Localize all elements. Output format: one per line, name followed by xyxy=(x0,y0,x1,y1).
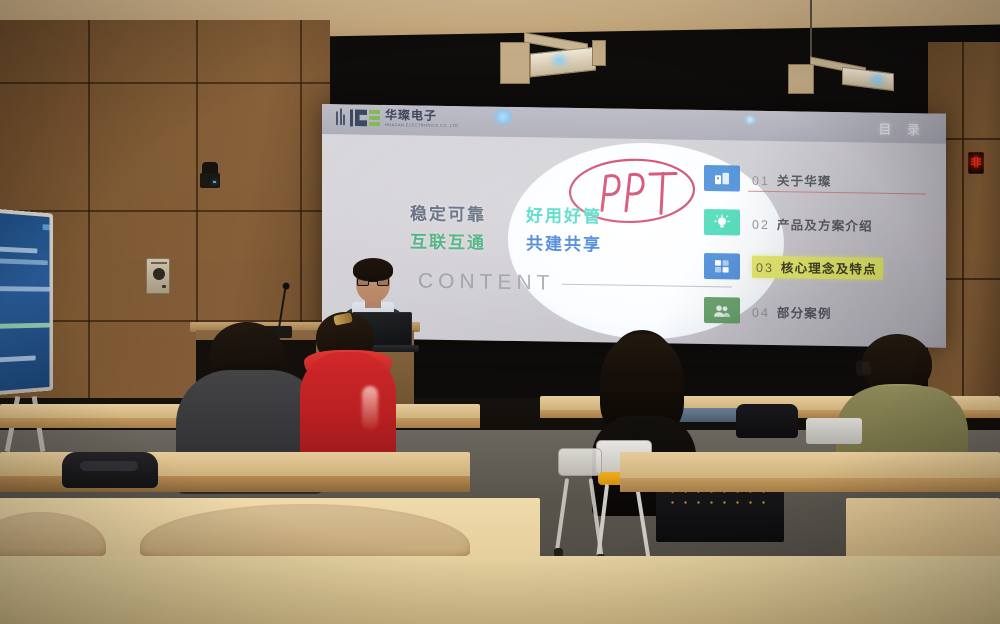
projector-hotspot xyxy=(490,109,516,125)
toc-name-03: 核心理念及特点 xyxy=(781,257,877,278)
toc-item-04: 04 部分案例 xyxy=(704,288,936,336)
toc-item-02: 02 产品及方案介绍 xyxy=(704,200,936,248)
building-icon xyxy=(704,165,740,192)
lightbulb-icon xyxy=(704,209,740,236)
ptz-camera xyxy=(200,162,220,188)
audience-glasses xyxy=(855,359,872,376)
toc-num-03: 03 xyxy=(756,261,774,275)
backpack-on-desk xyxy=(62,452,158,488)
secondary-display-screen xyxy=(0,212,49,391)
toc-num-04: 04 xyxy=(752,305,770,319)
chair-yellow-seat-secondary xyxy=(558,448,608,568)
desk-bottom-edge xyxy=(0,556,1000,624)
people-icon xyxy=(704,297,740,324)
slide-toc-title: 目 录 xyxy=(878,119,926,139)
toc-num-01: 01 xyxy=(752,173,770,187)
emergency-exit-sign: 非 xyxy=(968,152,984,174)
slide-keyword-1: 稳定可靠 xyxy=(410,199,486,225)
ceiling-projector-left xyxy=(500,24,610,84)
toc-item-03: 03 核心理念及特点 xyxy=(704,244,936,292)
slide-content-word: CONTENT xyxy=(418,270,555,296)
toc-name-02: 产品及方案介绍 xyxy=(777,214,873,235)
toc-item-01: 01 关于华璨 xyxy=(704,156,936,204)
company-logo: 华璨电子 HUACAN ELECTRONICS CO.,LTD xyxy=(336,108,458,128)
toc-underline-01 xyxy=(748,191,926,195)
slide-keyword-3: 好用好管 xyxy=(526,201,602,227)
logo-text-cn: 华璨电子 xyxy=(385,109,458,122)
toc-num-02: 02 xyxy=(752,217,770,231)
lecture-hall-photo: 非 华璨电子 HUACAN xyxy=(0,0,1000,624)
presenter-glasses xyxy=(357,278,389,286)
toc-name-04: 部分案例 xyxy=(777,302,832,322)
logo-mark-icon xyxy=(350,109,380,126)
slide-toc-list: 01 关于华璨 02 产品及方案介绍 xyxy=(704,156,936,336)
projector-hotspot-secondary xyxy=(742,115,758,125)
grid-blocks-icon xyxy=(704,253,740,280)
bag-on-desk xyxy=(736,404,798,438)
slide-keyword-4: 共建共享 xyxy=(526,229,602,255)
toc-name-01: 关于华璨 xyxy=(777,170,832,190)
slide-keyword-2: 互联互通 xyxy=(410,227,486,253)
wall-control-panel[interactable] xyxy=(146,258,170,294)
tablet-on-desk xyxy=(806,418,862,444)
desk-row-front-right xyxy=(620,452,1000,482)
ceiling-projector-right xyxy=(788,46,894,96)
logo-bars-icon xyxy=(336,109,345,125)
